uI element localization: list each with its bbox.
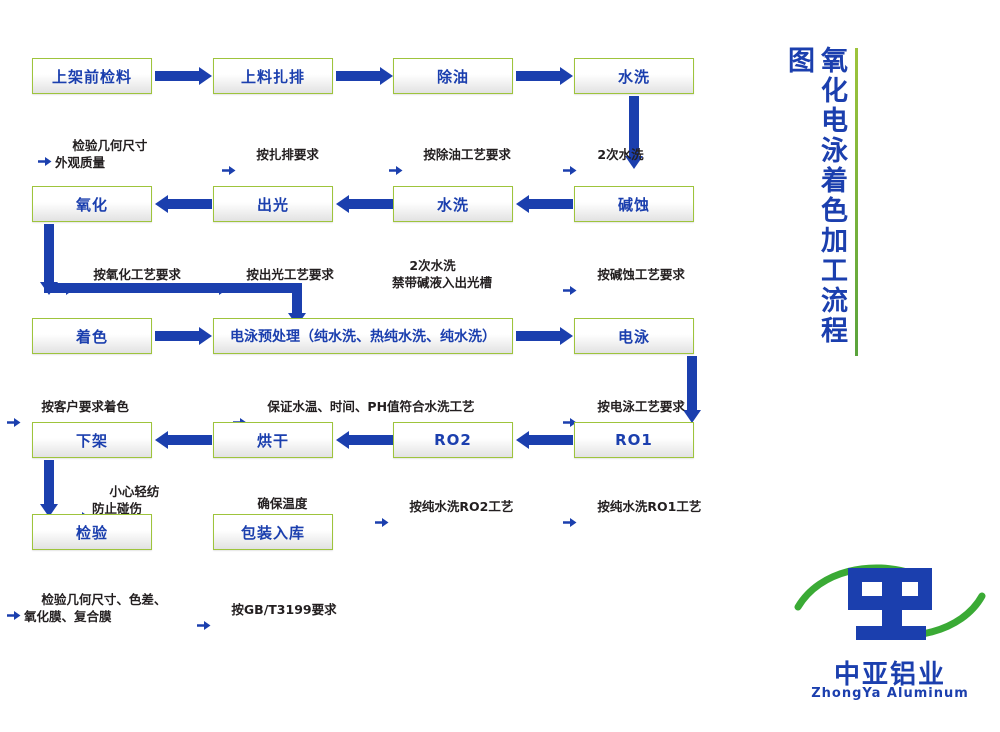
- process-box-dianyong[interactable]: 电泳: [574, 318, 694, 354]
- connector-r4-to-r5: [44, 460, 54, 506]
- note-anchuguanggongyiyaoqiu: 按出光工艺要求: [229, 249, 334, 300]
- process-box-chuguang[interactable]: 出光: [213, 186, 333, 222]
- note-text: 检验几何尺寸 外观质量: [55, 138, 147, 170]
- process-box-shangliaozhapai[interactable]: 上料扎排: [213, 58, 333, 94]
- process-box-shangjiaqianjianliao[interactable]: 上架前检料: [32, 58, 152, 94]
- connector-r3-to-r4: [687, 356, 697, 412]
- arrowhead-r1-c: [560, 67, 573, 85]
- connector-r1-a: [155, 71, 200, 81]
- note-text: 按氧化工艺要求: [93, 267, 181, 282]
- bullet-arrow-icon: [563, 483, 590, 562]
- note-jianyanjihechicun: 检验几何尺寸 外观质量: [55, 120, 147, 188]
- bullet-arrow-icon: [7, 576, 34, 655]
- connector-r3-b: [516, 331, 561, 341]
- note-jianyanjihechicunsecha: 检验几何尺寸、色差、 氧化膜、复合膜: [24, 574, 166, 642]
- flowchart-canvas: 上架前检料 上料扎排 除油 水洗 检验几何尺寸 外观质量 按扎排要求 按除油工艺…: [0, 0, 1000, 732]
- connector-r1-b: [336, 71, 381, 81]
- logo-name-en: ZhongYa Aluminum: [790, 686, 990, 701]
- note-text: 检验几何尺寸、色差、 氧化膜、复合膜: [24, 592, 166, 624]
- process-box-shuixi-1[interactable]: 水洗: [574, 58, 694, 94]
- page-title: 氧化电泳着色加工流程图: [790, 46, 848, 356]
- arrowhead-r4-b: [336, 431, 349, 449]
- note-2cishuixi-1: 2次水洗: [580, 129, 644, 180]
- process-box-dianyongyuchuli[interactable]: 电泳预处理（纯水洗、热纯水洗、纯水洗）: [213, 318, 513, 354]
- process-box-jianyan[interactable]: 检验: [32, 514, 152, 550]
- process-box-yanghua[interactable]: 氧化: [32, 186, 152, 222]
- note-text: 按出光工艺要求: [246, 267, 334, 282]
- note-text: 按纯水洗RO2工艺: [409, 499, 513, 514]
- note-text: 按纯水洗RO1工艺: [597, 499, 701, 514]
- note-text: 2次水洗 禁带碱液入出光槽: [392, 258, 492, 290]
- arrowhead-r1-a: [199, 67, 212, 85]
- bullet-arrow-icon: [375, 483, 402, 562]
- note-anchunshuixiro2: 按纯水洗RO2工艺: [392, 481, 513, 532]
- connector-r2-c: [167, 199, 212, 209]
- note-text: 2次水洗: [597, 147, 643, 162]
- arrowhead-r2-c: [155, 195, 168, 213]
- connector-r2-a: [528, 199, 573, 209]
- note-text: 按GB/T3199要求: [231, 602, 336, 617]
- process-box-zhuose[interactable]: 着色: [32, 318, 152, 354]
- bullet-arrow-icon: [197, 586, 224, 665]
- note-2cishuixi-jinjian: 2次水洗 禁带碱液入出光槽: [392, 240, 492, 308]
- connector-r1-c: [516, 71, 561, 81]
- bullet-arrow-icon: [7, 383, 34, 462]
- note-text: 按碱蚀工艺要求: [597, 267, 685, 282]
- connector-r2-b: [348, 199, 393, 209]
- connector-r2-to-r3-v: [44, 224, 54, 284]
- arrowhead-r4-a: [516, 431, 529, 449]
- process-box-jianshi[interactable]: 碱蚀: [574, 186, 694, 222]
- process-box-shuixi-2[interactable]: 水洗: [393, 186, 513, 222]
- note-anyanghuagongyiyaoqiu: 按氧化工艺要求: [76, 249, 181, 300]
- arrowhead-r3-b: [560, 327, 573, 345]
- connector-r4-a: [528, 435, 573, 445]
- company-logo: 中亚铝业 ZhongYa Aluminum: [790, 552, 990, 717]
- arrowhead-r3-a: [199, 327, 212, 345]
- note-text: 按客户要求着色: [41, 399, 129, 414]
- arrowhead-r2-a: [516, 195, 529, 213]
- process-box-baozhuangruku[interactable]: 包装入库: [213, 514, 333, 550]
- connector-r3-a: [155, 331, 200, 341]
- note-text: 确保温度: [257, 496, 307, 511]
- note-anchunshuixiro1: 按纯水洗RO1工艺: [580, 481, 701, 532]
- note-anzhapaiyaoqiu: 按扎排要求: [239, 129, 319, 180]
- logo-mark-icon: [790, 552, 990, 652]
- process-box-xiajia[interactable]: 下架: [32, 422, 152, 458]
- note-anjianshigongyiyaoqiu: 按碱蚀工艺要求: [580, 249, 685, 300]
- process-box-ro2[interactable]: RO2: [393, 422, 513, 458]
- note-anchuyougongyiyaoqiu: 按除油工艺要求: [406, 129, 511, 180]
- note-text: 按电泳工艺要求: [597, 399, 685, 414]
- arrowhead-r2-b: [336, 195, 349, 213]
- note-text: 保证水温、时间、PH值符合水洗工艺: [267, 399, 474, 414]
- arrowhead-r4-c: [155, 431, 168, 449]
- note-angbt3199yaoqiu: 按GB/T3199要求: [214, 584, 337, 635]
- connector-r4-c: [167, 435, 212, 445]
- note-text: 按扎排要求: [256, 147, 319, 162]
- title-divider: [855, 48, 858, 356]
- process-box-honggan[interactable]: 烘干: [213, 422, 333, 458]
- process-box-chuyou[interactable]: 除油: [393, 58, 513, 94]
- process-box-ro1[interactable]: RO1: [574, 422, 694, 458]
- connector-r4-b: [348, 435, 393, 445]
- note-text: 按除油工艺要求: [423, 147, 511, 162]
- arrowhead-r1-b: [380, 67, 393, 85]
